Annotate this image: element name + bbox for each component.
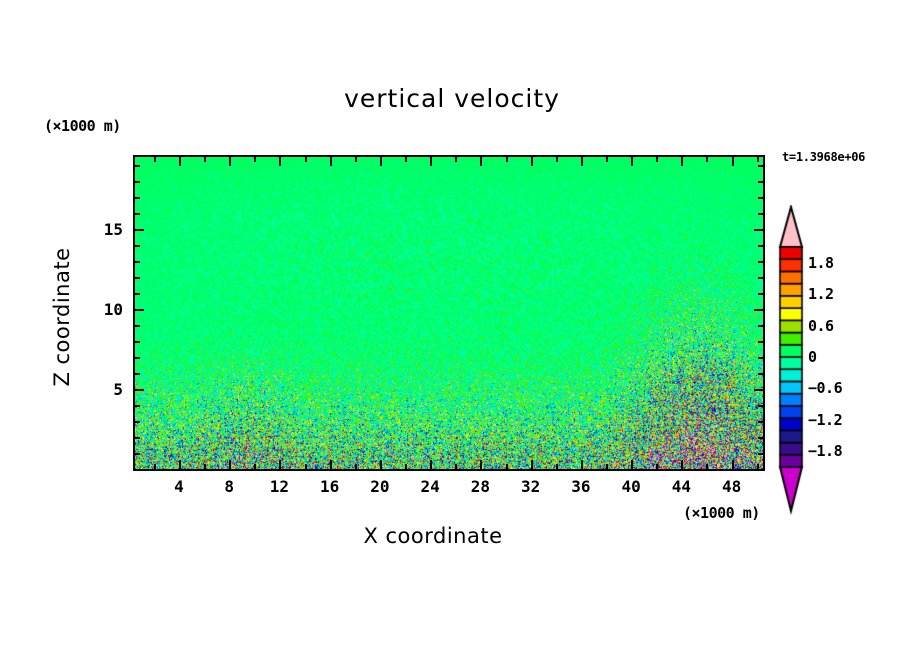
- y-tick-label: 5: [83, 380, 123, 399]
- tick-mark: [706, 464, 708, 469]
- x-axis-unit-label: (×1000 m): [683, 504, 760, 522]
- colorbar-tick-label: 1.2: [808, 285, 834, 303]
- tick-mark: [179, 460, 181, 469]
- tick-mark: [681, 460, 683, 469]
- x-tick-label: 20: [360, 477, 400, 496]
- tick-mark: [135, 293, 140, 295]
- tick-mark: [135, 325, 140, 327]
- tick-mark: [758, 341, 763, 343]
- tick-mark: [758, 213, 763, 215]
- tick-mark: [135, 437, 140, 439]
- tick-mark: [135, 229, 144, 231]
- tick-mark: [380, 157, 382, 166]
- tick-mark: [681, 157, 683, 166]
- tick-mark: [531, 157, 533, 166]
- x-tick-label: 12: [259, 477, 299, 496]
- tick-mark: [154, 157, 156, 162]
- tick-mark: [758, 373, 763, 375]
- tick-mark: [758, 357, 763, 359]
- tick-mark: [606, 157, 608, 162]
- tick-mark: [732, 460, 734, 469]
- tick-mark: [305, 464, 307, 469]
- x-tick-label: 36: [561, 477, 601, 496]
- tick-mark: [758, 277, 763, 279]
- x-tick-label: 24: [410, 477, 450, 496]
- colorbar-tick-label: 1.8: [808, 254, 834, 272]
- tick-mark: [279, 460, 281, 469]
- tick-mark: [531, 460, 533, 469]
- x-axis-title: X coordinate: [233, 524, 633, 548]
- tick-mark: [455, 157, 457, 162]
- x-tick-label: 44: [661, 477, 701, 496]
- tick-mark: [204, 157, 206, 162]
- tick-mark: [758, 421, 763, 423]
- tick-mark: [631, 157, 633, 166]
- tick-mark: [455, 464, 457, 469]
- tick-mark: [380, 460, 382, 469]
- x-tick-label: 32: [511, 477, 551, 496]
- tick-mark: [229, 157, 231, 166]
- colorbar-tick-label: −1.2: [808, 411, 842, 429]
- tick-mark: [135, 261, 140, 263]
- tick-mark: [154, 464, 156, 469]
- tick-mark: [758, 293, 763, 295]
- x-tick-label: 40: [611, 477, 651, 496]
- y-tick-label: 10: [83, 300, 123, 319]
- tick-mark: [732, 157, 734, 166]
- tick-mark: [135, 357, 140, 359]
- tick-mark: [135, 421, 140, 423]
- tick-mark: [758, 453, 763, 455]
- tick-mark: [204, 464, 206, 469]
- x-tick-label: 8: [209, 477, 249, 496]
- x-tick-label: 4: [159, 477, 199, 496]
- x-tick-label: 16: [310, 477, 350, 496]
- tick-mark: [330, 460, 332, 469]
- tick-mark: [606, 464, 608, 469]
- timestamp-annotation: t=1.3968e+06: [782, 150, 865, 164]
- plot-area: [133, 155, 765, 471]
- tick-mark: [758, 197, 763, 199]
- tick-mark: [556, 464, 558, 469]
- tick-mark: [480, 460, 482, 469]
- tick-mark: [135, 389, 144, 391]
- page-title: vertical velocity: [0, 84, 904, 113]
- colorbar: 1.81.20.60−0.6−1.2−1.8: [772, 205, 892, 515]
- tick-mark: [135, 405, 140, 407]
- tick-mark: [355, 464, 357, 469]
- tick-mark: [754, 309, 763, 311]
- tick-mark: [135, 245, 140, 247]
- heatmap-field: [135, 157, 763, 469]
- tick-mark: [135, 341, 140, 343]
- tick-mark: [758, 245, 763, 247]
- colorbar-tick-label: −1.8: [808, 442, 842, 460]
- tick-mark: [556, 157, 558, 162]
- tick-mark: [631, 460, 633, 469]
- tick-mark: [279, 157, 281, 166]
- tick-mark: [135, 373, 140, 375]
- tick-mark: [758, 405, 763, 407]
- tick-mark: [758, 165, 763, 167]
- tick-mark: [480, 157, 482, 166]
- tick-mark: [405, 157, 407, 162]
- y-tick-label: 15: [83, 220, 123, 239]
- tick-mark: [656, 157, 658, 162]
- tick-mark: [758, 437, 763, 439]
- tick-mark: [757, 157, 759, 162]
- tick-mark: [179, 157, 181, 166]
- tick-mark: [135, 309, 144, 311]
- tick-mark: [506, 464, 508, 469]
- tick-mark: [135, 181, 140, 183]
- tick-mark: [758, 181, 763, 183]
- tick-mark: [135, 277, 140, 279]
- tick-mark: [135, 165, 140, 167]
- tick-mark: [355, 157, 357, 162]
- tick-mark: [135, 197, 140, 199]
- tick-mark: [430, 157, 432, 166]
- y-axis-title: Z coordinate: [50, 222, 74, 412]
- x-tick-label: 48: [712, 477, 752, 496]
- y-axis-unit-label: (×1000 m): [44, 117, 121, 135]
- tick-mark: [754, 389, 763, 391]
- tick-mark: [405, 464, 407, 469]
- colorbar-gradient: [772, 205, 892, 515]
- tick-mark: [706, 157, 708, 162]
- tick-mark: [757, 464, 759, 469]
- tick-mark: [330, 157, 332, 166]
- tick-mark: [754, 229, 763, 231]
- tick-mark: [135, 453, 140, 455]
- colorbar-tick-label: 0.6: [808, 317, 834, 335]
- tick-mark: [758, 325, 763, 327]
- colorbar-tick-label: −0.6: [808, 379, 842, 397]
- tick-mark: [135, 213, 140, 215]
- tick-mark: [305, 157, 307, 162]
- tick-mark: [758, 261, 763, 263]
- tick-mark: [581, 460, 583, 469]
- tick-mark: [506, 157, 508, 162]
- x-tick-label: 28: [460, 477, 500, 496]
- tick-mark: [229, 460, 231, 469]
- colorbar-tick-label: 0: [808, 348, 817, 366]
- tick-mark: [656, 464, 658, 469]
- tick-mark: [581, 157, 583, 166]
- tick-mark: [254, 464, 256, 469]
- tick-mark: [254, 157, 256, 162]
- tick-mark: [430, 460, 432, 469]
